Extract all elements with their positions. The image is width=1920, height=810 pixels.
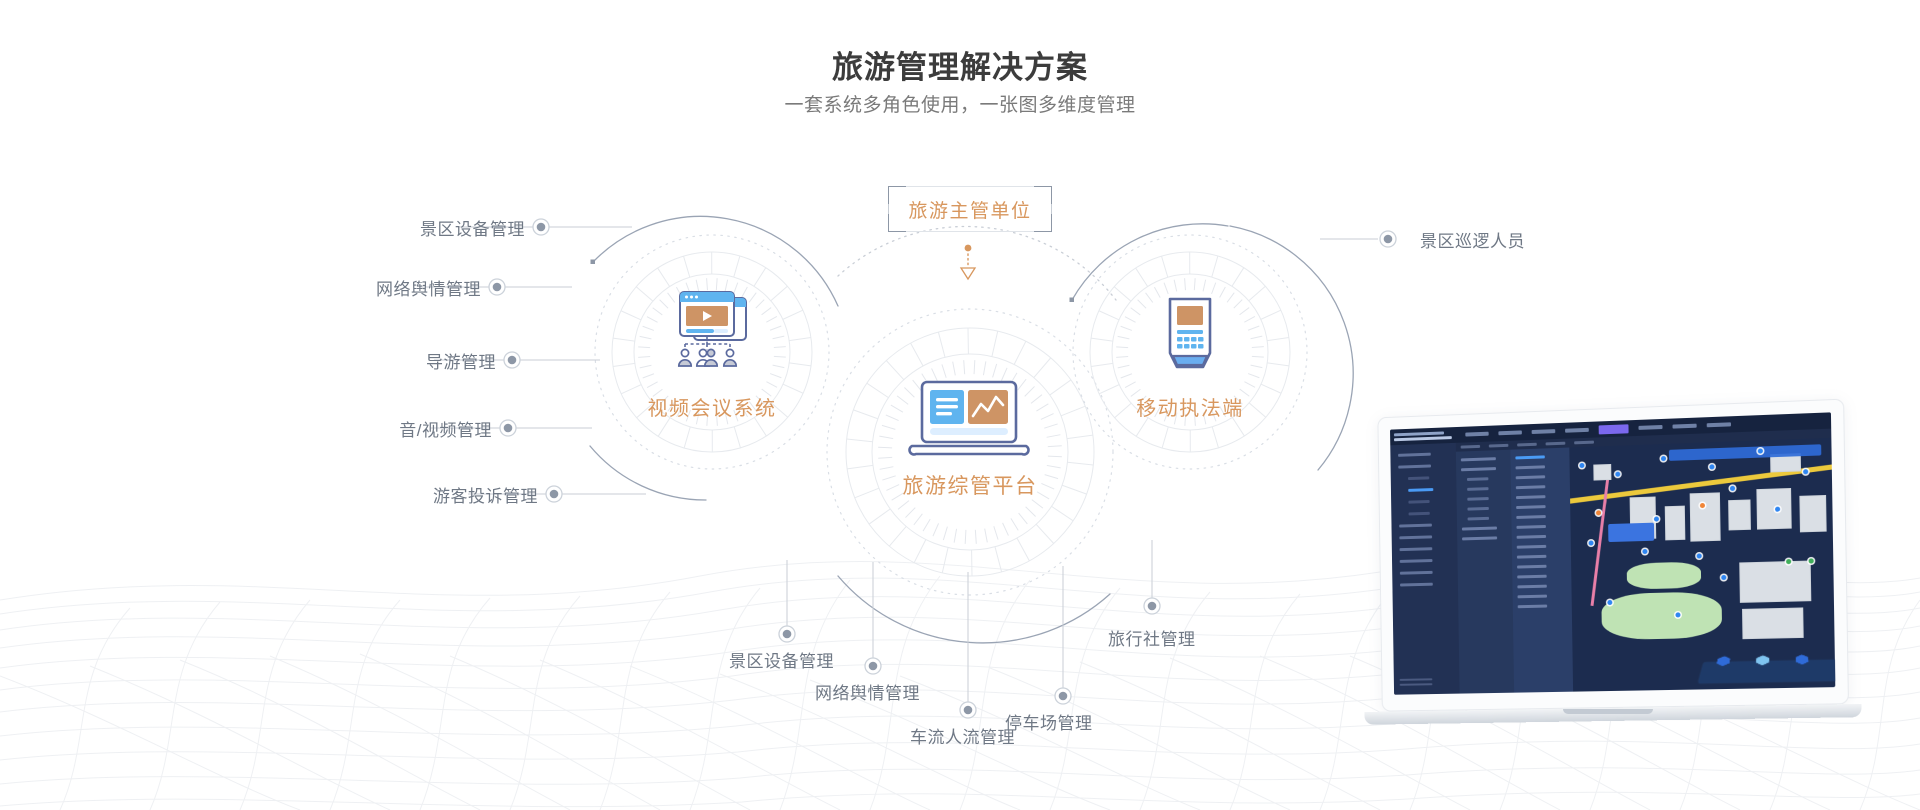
caption-mobile-enforcement[interactable]: 移动执法端	[1110, 392, 1270, 421]
mock-filter-panel	[1456, 448, 1573, 694]
left-label-0[interactable]: 景区设备管理	[325, 215, 525, 240]
mock-sidebar-footer	[1400, 675, 1448, 689]
left-label-3[interactable]: 音/视频管理	[292, 416, 492, 441]
left-label-4[interactable]: 游客投诉管理	[338, 482, 538, 507]
page-title: 旅游管理解决方案	[0, 42, 1920, 87]
bottom-label-1[interactable]: 网络舆情管理	[815, 679, 920, 704]
bottom-label-0[interactable]: 景区设备管理	[729, 647, 834, 672]
tourism-map-dashboard-laptop[interactable]	[1358, 408, 1858, 753]
bottom-label-4[interactable]: 旅行社管理	[1108, 625, 1196, 650]
mock-city-map[interactable]	[1569, 438, 1835, 692]
bottom-label-2[interactable]: 车流人流管理	[910, 723, 1015, 748]
page-subtitle: 一套系统多角色使用，一张图多维度管理	[0, 90, 1920, 117]
left-label-2[interactable]: 导游管理	[296, 348, 496, 373]
right-label-0[interactable]: 景区巡逻人员	[1420, 227, 1525, 252]
map-green-area	[1627, 562, 1702, 590]
map-green-area-2	[1601, 591, 1722, 640]
left-label-1[interactable]: 网络舆情管理	[281, 275, 481, 300]
mock-sidebar	[1390, 443, 1459, 695]
map-bottom-dock[interactable]	[1697, 658, 1835, 683]
laptop-dashboard-icon[interactable]	[908, 380, 1030, 462]
map-info-tag[interactable]	[1608, 523, 1654, 542]
bottom-label-3[interactable]: 停车场管理	[1005, 709, 1093, 734]
authority-box[interactable]: 旅游主管单位	[888, 186, 1052, 232]
laptop-notch	[1563, 709, 1653, 714]
bottom-connectors	[787, 540, 1152, 702]
mobile-enforcement-icon[interactable]	[1158, 296, 1222, 378]
laptop-screen[interactable]	[1390, 412, 1835, 694]
laptop-lid	[1377, 399, 1849, 712]
caption-video-conference[interactable]: 视频会议系统	[612, 392, 812, 421]
mock-tree-column	[1456, 450, 1514, 694]
dotted-arrow-down-icon	[961, 245, 975, 279]
authority-label: 旅游主管单位	[888, 186, 1052, 232]
mock-layer-column	[1510, 448, 1573, 693]
mock-nav-active	[1599, 424, 1629, 434]
video-conference-icon[interactable]	[672, 290, 754, 370]
caption-tourism-platform[interactable]: 旅游综管平台	[870, 470, 1070, 500]
connector-markers	[489, 219, 1396, 718]
